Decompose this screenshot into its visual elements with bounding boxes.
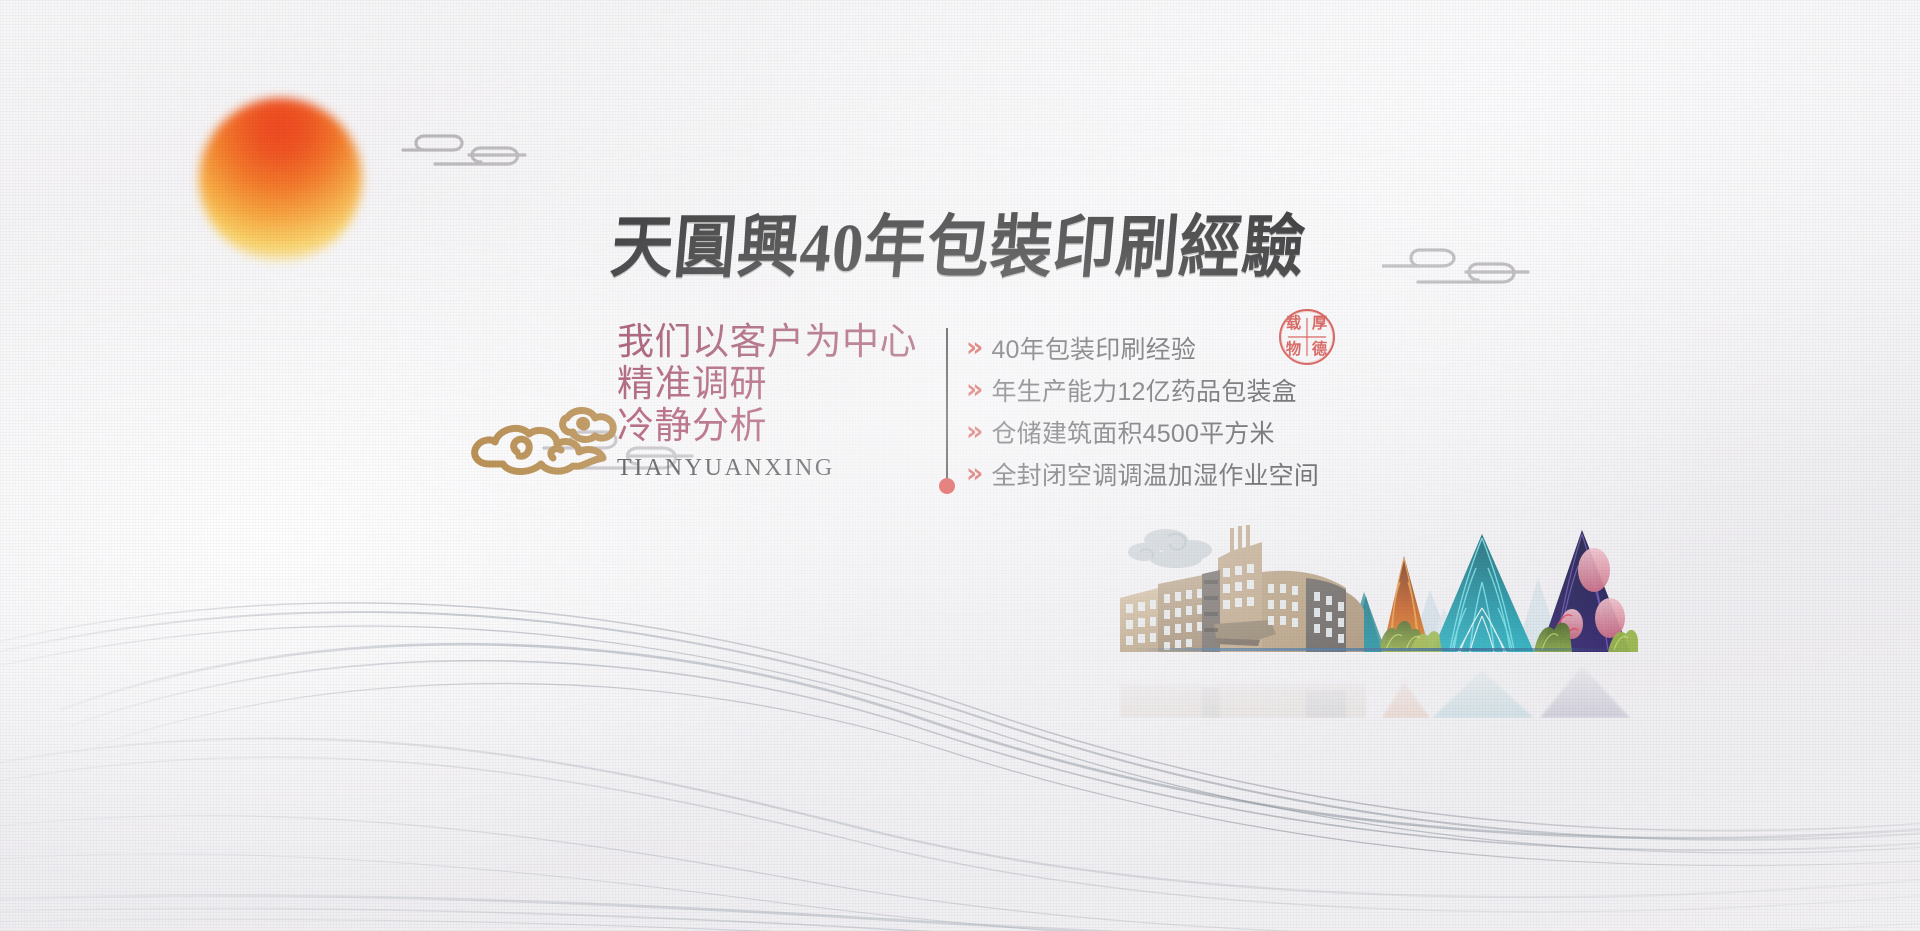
- list-item-label: 仓储建筑面积4500平方米: [991, 414, 1274, 450]
- vertical-divider: [946, 328, 948, 484]
- grey-cloud-icon: [1128, 529, 1212, 568]
- rising-sun-icon: [199, 98, 362, 261]
- auspicious-cloud-icon: [455, 390, 635, 482]
- feature-list: » 40年包装印刷经验 » 年生产能力12亿药品包装盒 » 仓储建筑面积4500…: [966, 328, 1526, 496]
- list-item-label: 40年包装印刷经验: [991, 330, 1196, 366]
- list-item: » 全封闭空调调温加湿作业空间: [966, 454, 1526, 493]
- slogan-line-2: 精准调研: [617, 364, 927, 406]
- chevron-right-icon: »: [966, 376, 983, 403]
- slogan-block: 我们以客户为中心 精准调研 冷静分析 TIANYUANXING: [617, 322, 927, 482]
- list-item: » 40年包装印刷经验: [966, 328, 1526, 367]
- cloud-line-top-right-icon: [1382, 236, 1532, 292]
- chevron-right-icon: »: [966, 460, 983, 487]
- list-item-label: 全封闭空调调温加湿作业空间: [991, 456, 1319, 492]
- chevron-right-icon: »: [966, 334, 983, 361]
- ground-baseline: [1133, 648, 1625, 651]
- list-item: » 年生产能力12亿药品包装盒: [966, 370, 1526, 409]
- slogan-line-3: 冷静分析: [617, 406, 927, 448]
- slogan-line-1: 我们以客户为中心: [617, 322, 927, 364]
- banner-headline: 天圓興40年包裝印刷經驗: [608, 192, 1317, 291]
- divider-dot: [939, 478, 955, 494]
- chevron-right-icon: »: [966, 418, 983, 445]
- brand-pinyin: TIANYUANXING: [617, 455, 927, 482]
- artwork-reflection: [1110, 648, 1640, 718]
- list-item: » 仓储建筑面积4500平方米: [966, 412, 1526, 451]
- list-item-label: 年生产能力12亿药品包装盒: [991, 372, 1296, 408]
- promo-banner: 天圓興40年包裝印刷經驗 载 厚 物 德 我们以客户为中心 精准调研 冷静分析 …: [0, 0, 1920, 931]
- cloud-line-top-left-icon: [395, 122, 530, 174]
